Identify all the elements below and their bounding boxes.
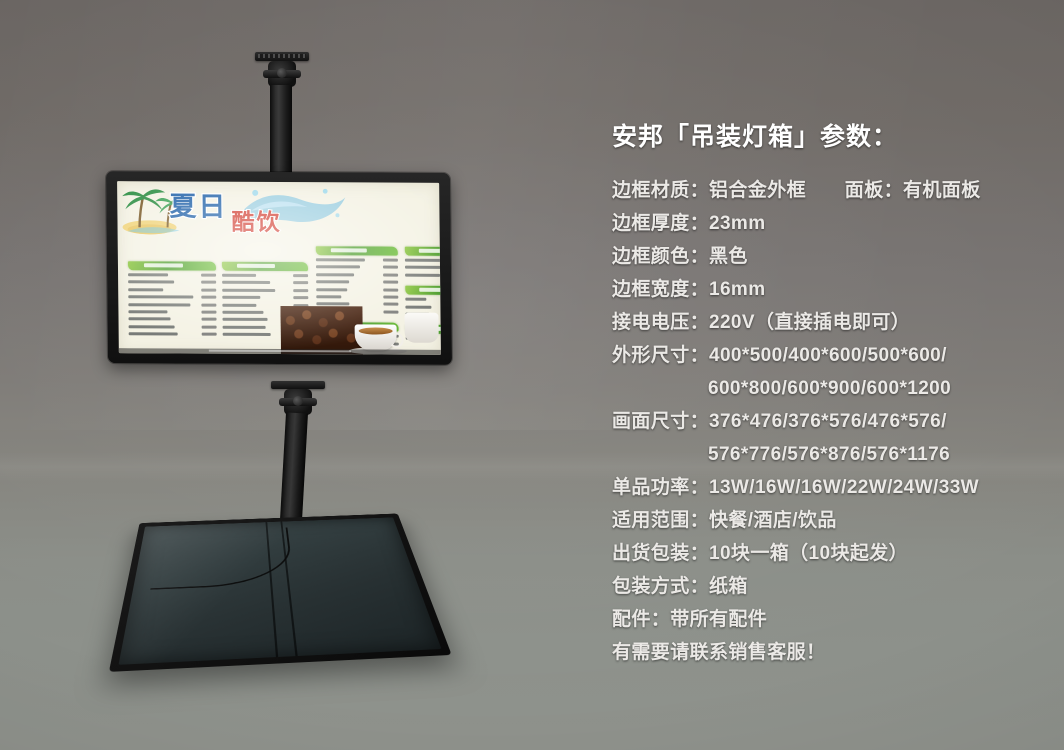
spec-text-block: 安邦「吊装灯箱」参数： 边框材质：铝合金外框 面板：有机面板边框厚度：23mm边… (612, 122, 1042, 669)
spec-line: 有需要请联系销售客服！ (612, 636, 1042, 669)
menu-item-row (128, 272, 216, 277)
menu-item-row (405, 258, 441, 263)
menu-item-price (202, 333, 217, 336)
menu-item-name (316, 273, 354, 276)
menu-item-price (383, 281, 398, 284)
menu-category-spacer (129, 339, 217, 345)
menu-item-row (222, 287, 308, 292)
unlit-panel-face (119, 517, 442, 664)
menu-item-row (129, 317, 217, 322)
menu-item-name (222, 288, 275, 291)
menu-column (128, 261, 217, 345)
menu-item-name (128, 303, 190, 306)
menu-item-name (128, 281, 174, 284)
menu-item-row (316, 257, 398, 262)
spec-line-list: 边框材质：铝合金外框 面板：有机面板边框厚度：23mm边框颜色：黑色边框宽度：1… (612, 174, 1042, 669)
menu-item-name (129, 318, 171, 321)
coffee-cup-front (355, 324, 397, 350)
menu-item-price (201, 274, 216, 277)
menu-item-price (201, 281, 216, 284)
upper-pivot-joint (268, 61, 296, 87)
spec-line: 边框宽度：16mm (612, 273, 1042, 306)
menu-item-name (222, 274, 256, 277)
spec-line: 600*800/600*900/600*1200 (612, 372, 1042, 405)
spec-line: 外形尺寸：400*500/400*600/500*600/ (612, 339, 1042, 372)
menu-item-row (128, 280, 216, 285)
menu-item-row (316, 272, 398, 277)
menu-item-name (222, 296, 260, 299)
menu-item-name (405, 259, 441, 262)
mount-plate-bolts-icon (258, 54, 306, 58)
menu-item-name (316, 258, 365, 261)
spec-line: 单品功率：13W/16W/16W/22W/24W/33W (612, 471, 1042, 504)
menu-item-row (128, 294, 216, 299)
product-spec-image: 夏日 酷饮 安邦「吊装灯箱」 (0, 0, 1064, 750)
menu-item-row (316, 265, 398, 270)
coffee-cup-back (404, 313, 438, 343)
menu-item-price (383, 259, 398, 262)
menu-item-name (223, 325, 266, 328)
spec-line: 接电电压：220V（直接插电即可） (612, 306, 1042, 339)
menu-item-name (128, 310, 167, 313)
menu-item-name (316, 266, 360, 269)
menu-item-row (128, 309, 216, 314)
menu-item-name (316, 288, 347, 291)
menu-item-row (128, 287, 216, 292)
menu-item-row (316, 287, 398, 292)
spec-title: 安邦「吊装灯箱」参数： (612, 122, 1042, 152)
menu-headline: 夏日 酷饮 (165, 187, 326, 236)
coffee-beans-image (280, 306, 363, 354)
spec-line: 包装方式：纸箱 (612, 570, 1042, 603)
svg-text:夏日: 夏日 (169, 191, 227, 222)
hanging-lightbox-lit: 夏日 酷饮 (106, 171, 452, 365)
menu-item-row (129, 324, 217, 329)
spec-line: 画面尺寸：376*476/376*576/476*576/ (612, 405, 1042, 438)
menu-category-header (405, 247, 441, 256)
lower-pivot-joint (284, 389, 312, 415)
menu-category-header (128, 261, 216, 270)
spec-line: 配件：带所有配件 (612, 603, 1042, 636)
menu-item-price (201, 288, 216, 291)
menu-item-price (383, 266, 398, 269)
menu-item-price (201, 303, 216, 306)
menu-item-price (383, 273, 398, 276)
spec-line: 适用范围：快餐/酒店/饮品 (612, 504, 1042, 537)
menu-item-price (293, 281, 308, 284)
menu-item-row (222, 273, 308, 278)
menu-footer-strip (119, 348, 441, 355)
menu-item-name (223, 318, 268, 321)
menu-item-name (128, 273, 169, 276)
menu-item-price (202, 318, 217, 321)
panel-reflection (119, 517, 442, 664)
menu-item-price (293, 274, 308, 277)
spec-line: 边框材质：铝合金外框 面板：有机面板 (612, 174, 1042, 207)
menu-item-name (223, 333, 271, 336)
menu-item-name (405, 273, 440, 276)
spec-line: 边框颜色：黑色 (612, 240, 1042, 273)
spec-line: 出货包装：10块一箱（10块起发） (612, 537, 1042, 570)
menu-item-name (222, 303, 256, 306)
menu-board-screen: 夏日 酷饮 (117, 181, 441, 355)
menu-item-row (316, 279, 398, 284)
unlit-lightbox-panel (109, 513, 452, 671)
menu-item-price (202, 325, 217, 328)
menu-category-header (316, 246, 398, 255)
menu-item-row (128, 302, 216, 307)
menu-category-header (222, 262, 308, 271)
menu-category-header (405, 286, 441, 295)
spec-line: 576*776/576*876/576*1176 (612, 438, 1042, 471)
menu-item-row (405, 265, 441, 270)
coffee-photo (280, 298, 441, 355)
menu-item-row (222, 280, 308, 285)
menu-item-name (222, 281, 270, 284)
menu-item-name (316, 280, 349, 283)
menu-item-price (201, 296, 216, 299)
menu-item-name (222, 311, 263, 314)
menu-item-name (128, 295, 193, 298)
spec-line: 边框厚度：23mm (612, 207, 1042, 240)
menu-item-price (201, 311, 216, 314)
menu-item-name (129, 332, 178, 335)
menu-item-name (405, 266, 441, 269)
svg-text:酷饮: 酷饮 (231, 209, 281, 236)
lower-mount-plate (271, 381, 325, 389)
menu-item-price (293, 289, 308, 292)
menu-item-price (383, 288, 398, 291)
menu-item-row (129, 331, 217, 336)
menu-item-name (129, 325, 175, 328)
menu-item-row (405, 272, 441, 277)
menu-item-name (128, 288, 163, 291)
